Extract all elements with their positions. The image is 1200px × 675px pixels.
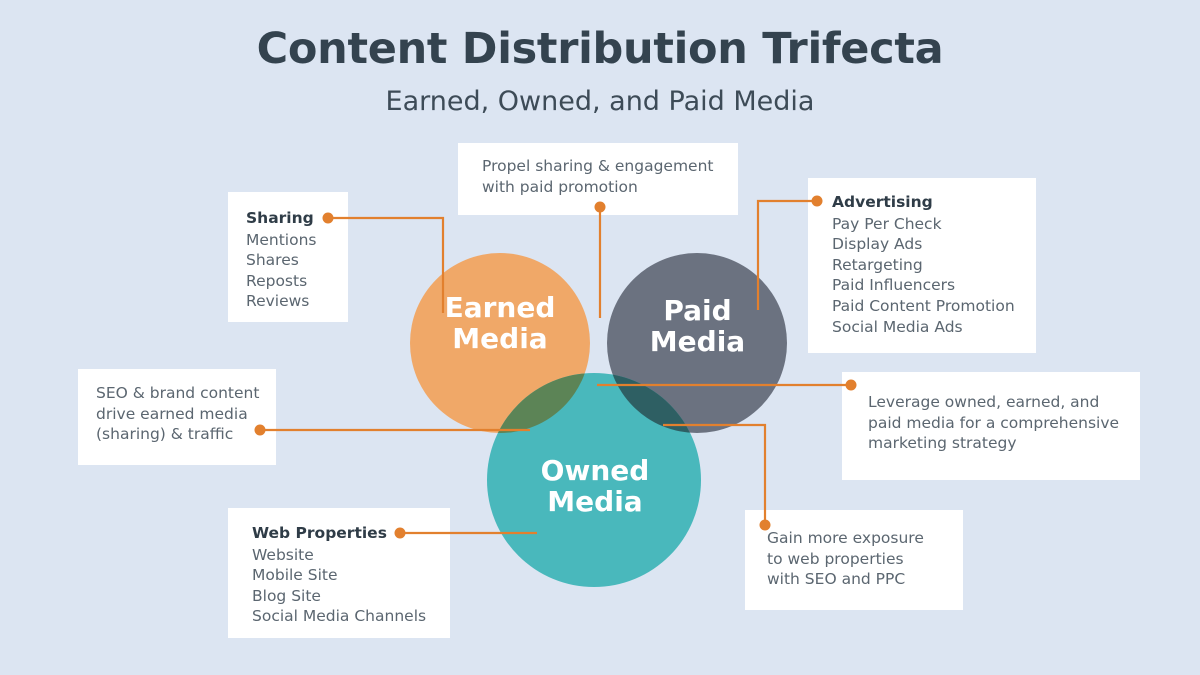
callout-advertising-heading: Advertising bbox=[832, 192, 1036, 213]
callout-advertising-item: Retargeting bbox=[832, 255, 1036, 276]
callout-leverage-line: Leverage owned, earned, and bbox=[868, 392, 1140, 413]
callout-leverage: Leverage owned, earned, and paid media f… bbox=[842, 372, 1140, 480]
callout-web-properties-item: Mobile Site bbox=[252, 565, 450, 586]
callout-gain-line: Gain more exposure bbox=[767, 528, 963, 549]
callout-advertising-item: Social Media Ads bbox=[832, 317, 1036, 338]
callout-advertising-item: Paid Content Promotion bbox=[832, 296, 1036, 317]
callout-web-properties-item: Blog Site bbox=[252, 586, 450, 607]
callout-leverage-line: paid media for a comprehensive bbox=[868, 413, 1140, 434]
infographic-canvas: Content Distribution Trifecta Earned, Ow… bbox=[0, 0, 1200, 675]
callout-advertising: Advertising Pay Per Check Display Ads Re… bbox=[808, 178, 1036, 353]
callout-advertising-item: Paid Influencers bbox=[832, 275, 1036, 296]
callout-advertising-item: Display Ads bbox=[832, 234, 1036, 255]
callout-seo-line: (sharing) & traffic bbox=[96, 424, 276, 445]
callout-sharing-item: Shares bbox=[246, 250, 348, 271]
callout-web-properties: Web Properties Website Mobile Site Blog … bbox=[228, 508, 450, 638]
callout-gain-line: with SEO and PPC bbox=[767, 569, 963, 590]
callout-seo: SEO & brand content drive earned media (… bbox=[78, 369, 276, 465]
callout-web-properties-item: Social Media Channels bbox=[252, 606, 450, 627]
callout-web-properties-item: Website bbox=[252, 545, 450, 566]
callout-sharing: Sharing Mentions Shares Reposts Reviews bbox=[228, 192, 348, 322]
callout-sharing-item: Reviews bbox=[246, 291, 348, 312]
callout-sharing-item: Mentions bbox=[246, 230, 348, 251]
callout-propel-line: Propel sharing & engagement bbox=[482, 156, 738, 177]
callout-propel-line: with paid promotion bbox=[482, 177, 738, 198]
callout-seo-line: drive earned media bbox=[96, 404, 276, 425]
callout-seo-line: SEO & brand content bbox=[96, 383, 276, 404]
callout-web-properties-heading: Web Properties bbox=[252, 523, 450, 544]
callout-propel: Propel sharing & engagement with paid pr… bbox=[458, 143, 738, 215]
callout-advertising-item: Pay Per Check bbox=[832, 214, 1036, 235]
callout-gain-line: to web properties bbox=[767, 549, 963, 570]
callout-leverage-line: marketing strategy bbox=[868, 433, 1140, 454]
callout-gain: Gain more exposure to web properties wit… bbox=[745, 510, 963, 610]
callout-sharing-item: Reposts bbox=[246, 271, 348, 292]
callout-sharing-heading: Sharing bbox=[246, 208, 348, 229]
